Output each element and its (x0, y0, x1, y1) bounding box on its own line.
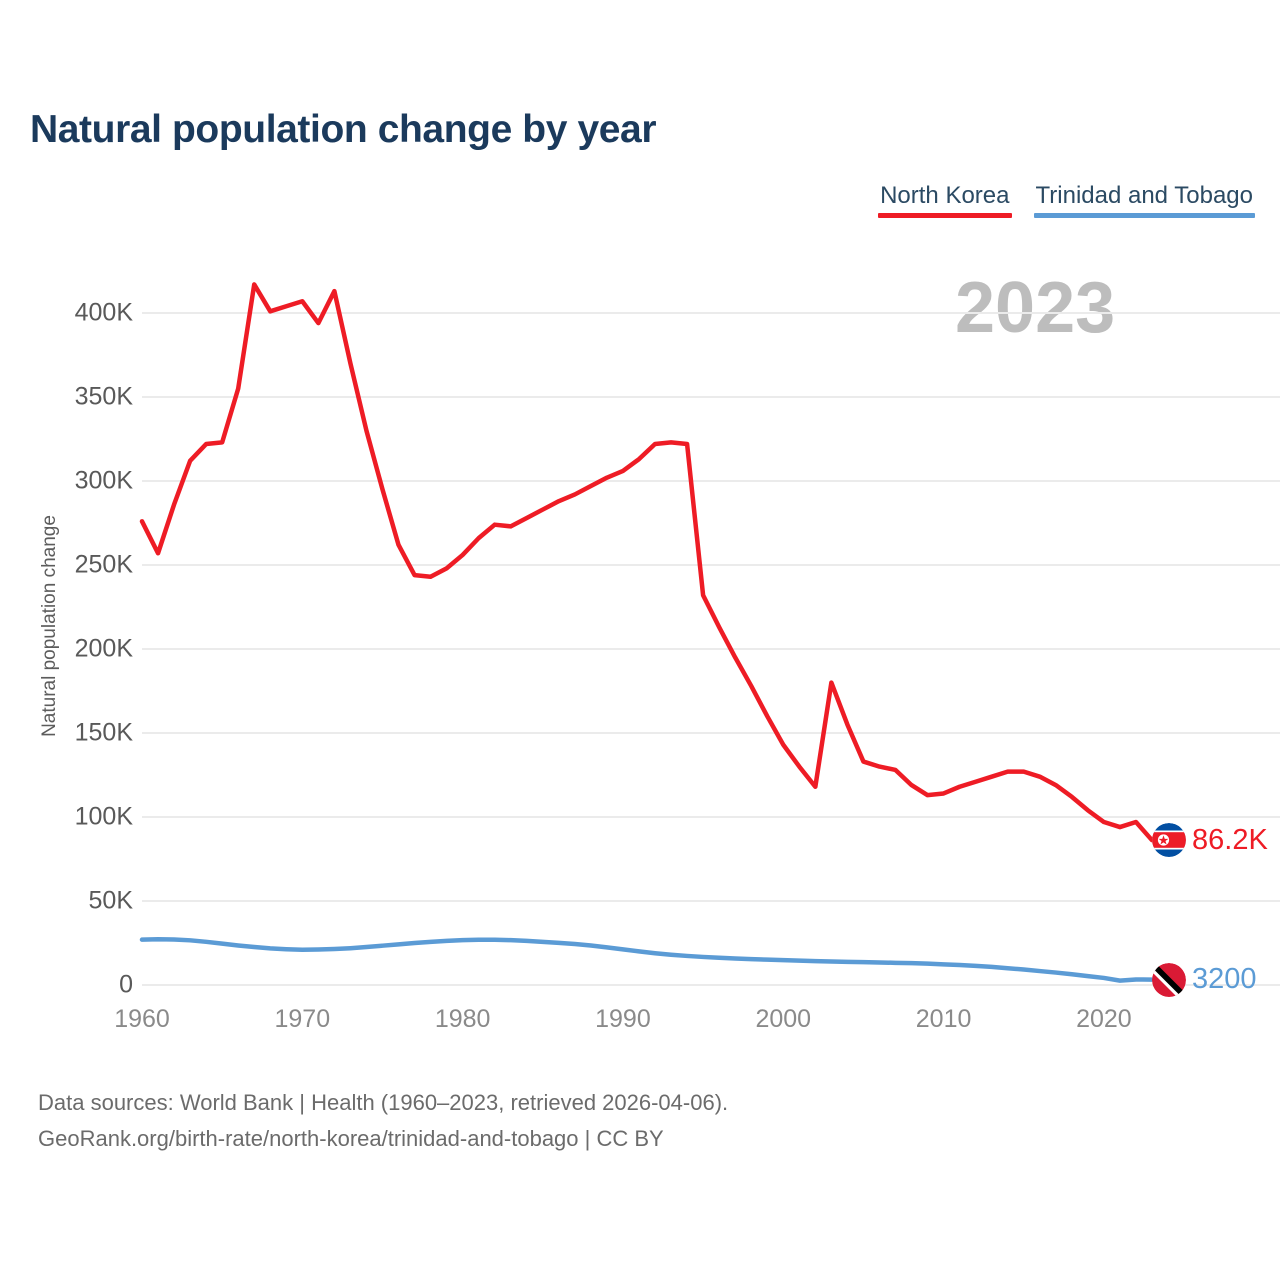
north-korea-flag-icon (1152, 823, 1186, 857)
y-axis-tick-label: 50K (89, 887, 133, 916)
series-line-trinidad-and-tobago (142, 939, 1152, 980)
footer-data-sources: Data sources: World Bank | Health (1960–… (38, 1085, 728, 1121)
chart-legend: North Korea Trinidad and Tobago (878, 183, 1255, 218)
y-axis-tick-label: 350K (75, 383, 133, 412)
series-line-north-korea (142, 284, 1152, 840)
legend-label-north-korea: North Korea (878, 183, 1011, 213)
y-axis-tick-label: 150K (75, 719, 133, 748)
chart-series-layer (142, 284, 1152, 980)
endpoint-north-korea: 86.2K (1152, 823, 1268, 857)
x-axis-tick-label: 1990 (595, 1005, 651, 1034)
endpoint-value-north-korea: 86.2K (1192, 826, 1268, 855)
x-axis-tick-label: 2010 (916, 1005, 972, 1034)
y-axis-tick-label: 100K (75, 803, 133, 832)
footer-attribution: GeoRank.org/birth-rate/north-korea/trini… (38, 1121, 728, 1157)
legend-label-trinidad-and-tobago: Trinidad and Tobago (1034, 183, 1256, 213)
x-axis-tick-label: 2020 (1076, 1005, 1132, 1034)
chart-gridlines (142, 313, 1280, 985)
y-axis-tick-label: 0 (119, 971, 133, 1000)
y-axis-title: Natural population change (39, 476, 61, 776)
trinidad-and-tobago-flag-icon (1152, 963, 1186, 997)
endpoint-value-trinidad-and-tobago: 3200 (1192, 965, 1257, 994)
legend-color-swatch-trinidad-and-tobago (1034, 213, 1256, 218)
y-axis-tick-label: 400K (75, 299, 133, 328)
year-watermark: 2023 (955, 272, 1115, 344)
endpoint-trinidad-and-tobago: 3200 (1152, 963, 1257, 997)
y-axis-tick-label: 250K (75, 551, 133, 580)
legend-item-north-korea[interactable]: North Korea (878, 183, 1011, 218)
y-axis-tick-label: 300K (75, 467, 133, 496)
legend-color-swatch-north-korea (878, 213, 1011, 218)
footer: Data sources: World Bank | Health (1960–… (38, 1085, 728, 1156)
x-axis-tick-label: 1960 (114, 1005, 170, 1034)
page-title: Natural population change by year (30, 108, 656, 152)
x-axis-tick-label: 1970 (275, 1005, 331, 1034)
y-axis-tick-label: 200K (75, 635, 133, 664)
x-axis-tick-label: 1980 (435, 1005, 491, 1034)
x-axis-tick-label: 2000 (755, 1005, 811, 1034)
legend-item-trinidad-and-tobago[interactable]: Trinidad and Tobago (1034, 183, 1256, 218)
